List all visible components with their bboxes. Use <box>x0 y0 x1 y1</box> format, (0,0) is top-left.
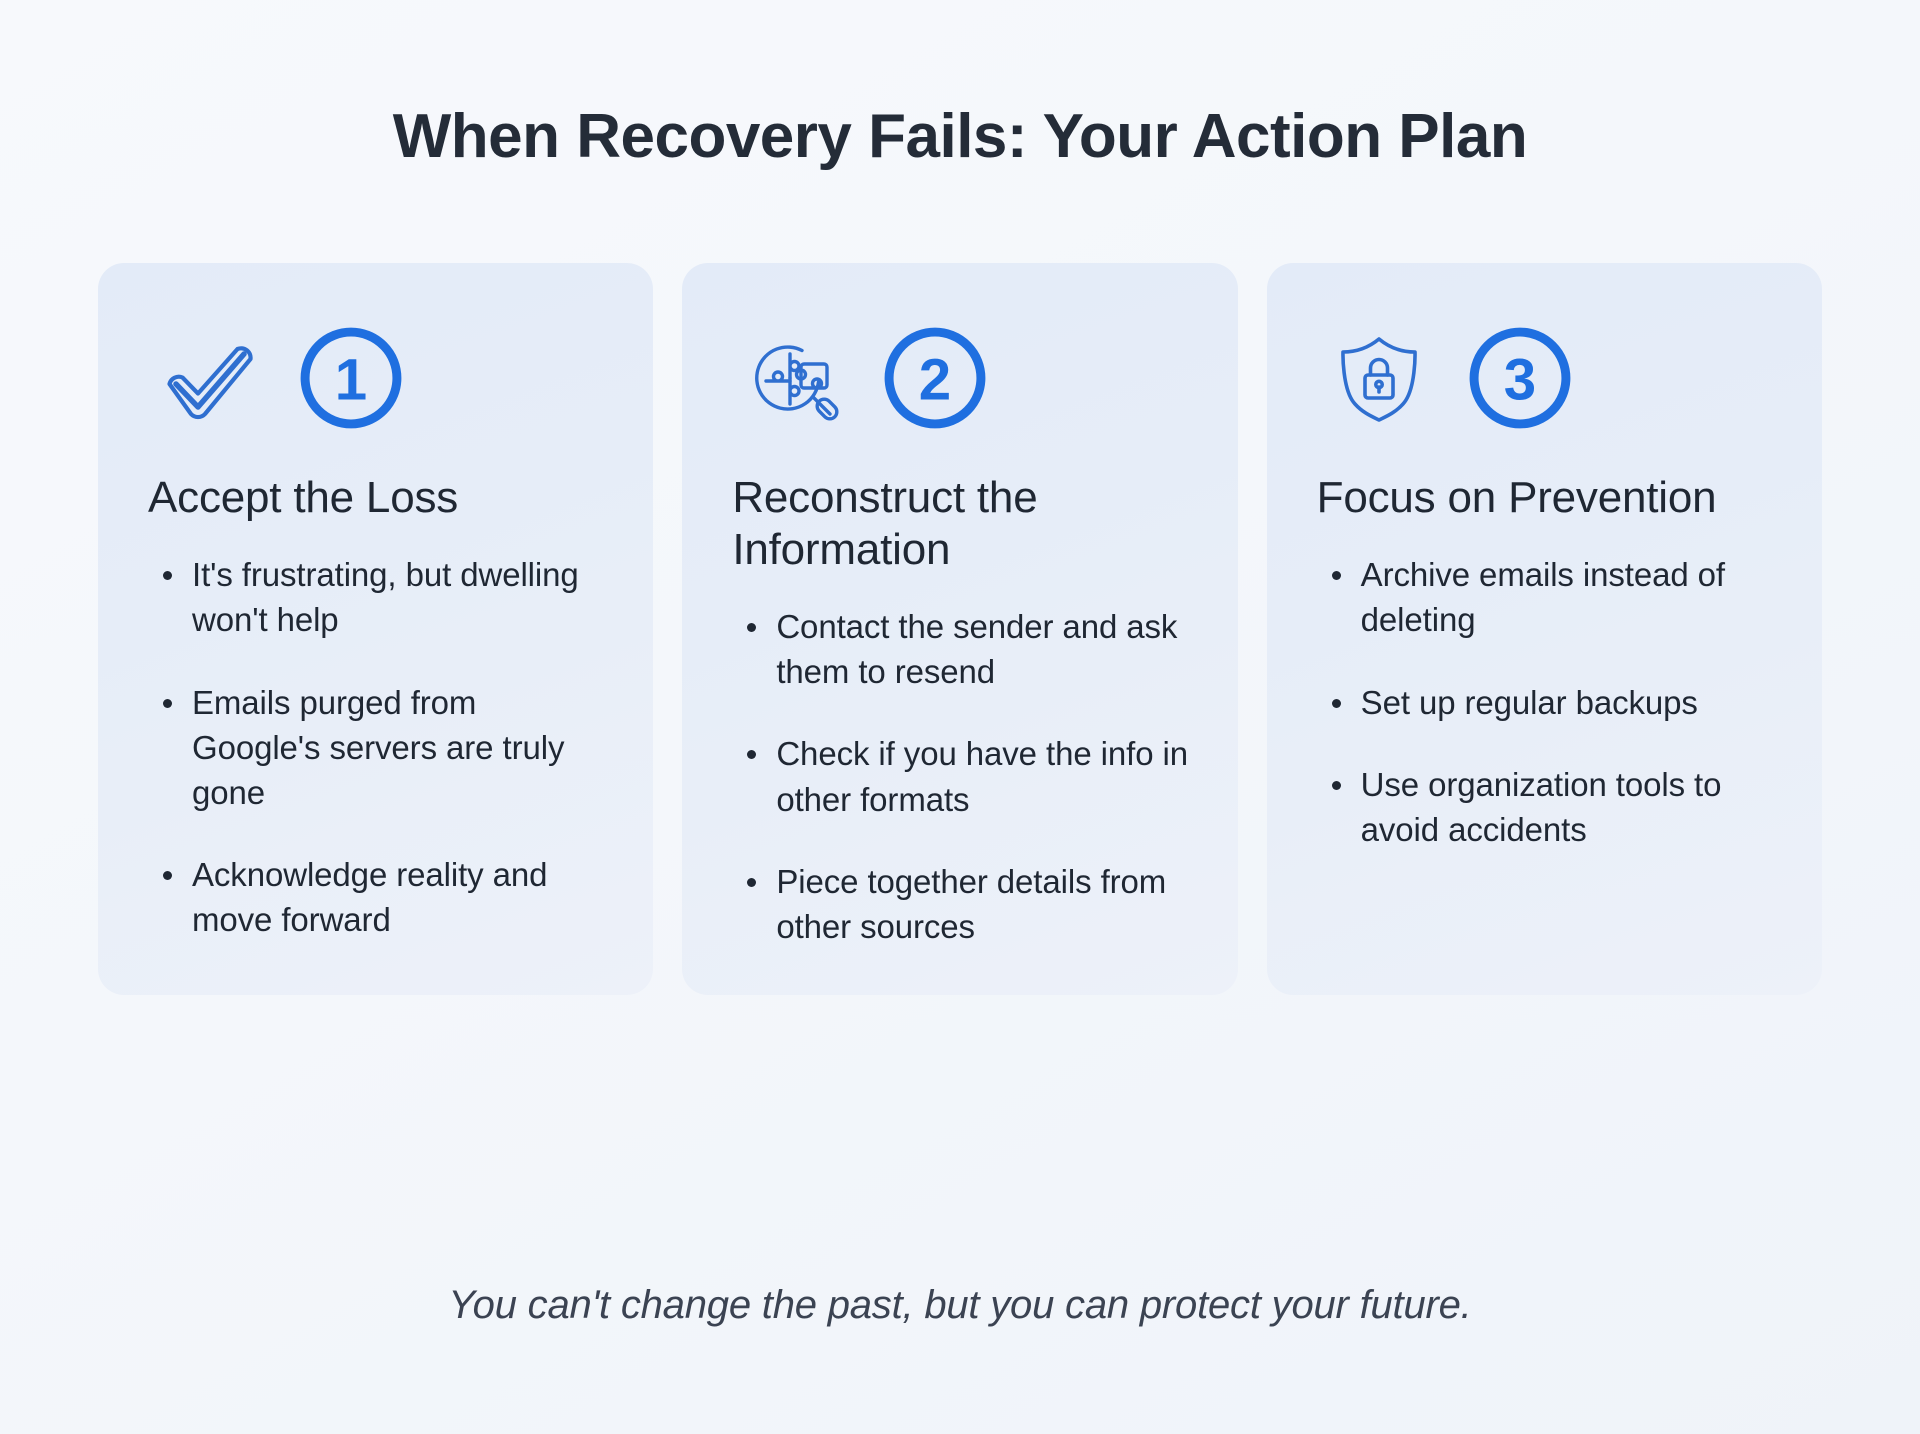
step-card-1: 1 Accept the Loss It's frustrating, but … <box>98 263 653 995</box>
page-title: When Recovery Fails: Your Action Plan <box>0 0 1920 171</box>
card-3-title: Focus on Prevention <box>1309 472 1780 524</box>
step-card-3: 3 Focus on Prevention Archive emails ins… <box>1267 263 1822 995</box>
shield-lock-icon <box>1325 324 1433 432</box>
card-1-icon-row: 1 <box>140 318 611 438</box>
step-number-badge-1: 1 <box>292 319 410 437</box>
list-item: Piece together details from other source… <box>776 859 1195 949</box>
list-item: Set up regular backups <box>1361 680 1780 725</box>
card-2-bullet-list: Contact the sender and ask them to resen… <box>724 604 1195 949</box>
footer-quote: You can't change the past, but you can p… <box>0 1283 1920 1328</box>
card-2-icon-row: 2 <box>724 318 1195 438</box>
step-number-badge-3: 3 <box>1461 319 1579 437</box>
list-item: It's frustrating, but dwelling won't hel… <box>192 552 611 642</box>
steps-card-row: 1 Accept the Loss It's frustrating, but … <box>0 263 1920 995</box>
list-item: Emails purged from Google's servers are … <box>192 680 611 816</box>
list-item: Archive emails instead of deleting <box>1361 552 1780 642</box>
check-mark-icon <box>156 324 264 432</box>
step-number-badge-2: 2 <box>876 319 994 437</box>
step-card-2: 2 Reconstruct the Information Contact th… <box>682 263 1237 995</box>
step-number-text-3: 3 <box>1503 347 1535 412</box>
list-item: Check if you have the info in other form… <box>776 731 1195 821</box>
card-3-icon-row: 3 <box>1309 318 1780 438</box>
step-number-text-2: 2 <box>919 347 951 412</box>
card-3-bullet-list: Archive emails instead of deleting Set u… <box>1309 552 1780 852</box>
list-item: Acknowledge reality and move forward <box>192 852 611 942</box>
card-1-title: Accept the Loss <box>140 472 611 524</box>
puzzle-magnifier-icon <box>740 324 848 432</box>
infographic-poster: When Recovery Fails: Your Action Plan 1 <box>0 0 1920 1434</box>
step-number-text-1: 1 <box>335 347 367 412</box>
card-2-title: Reconstruct the Information <box>724 472 1195 576</box>
list-item: Contact the sender and ask them to resen… <box>776 604 1195 694</box>
card-1-bullet-list: It's frustrating, but dwelling won't hel… <box>140 552 611 942</box>
list-item: Use organization tools to avoid accident… <box>1361 762 1780 852</box>
